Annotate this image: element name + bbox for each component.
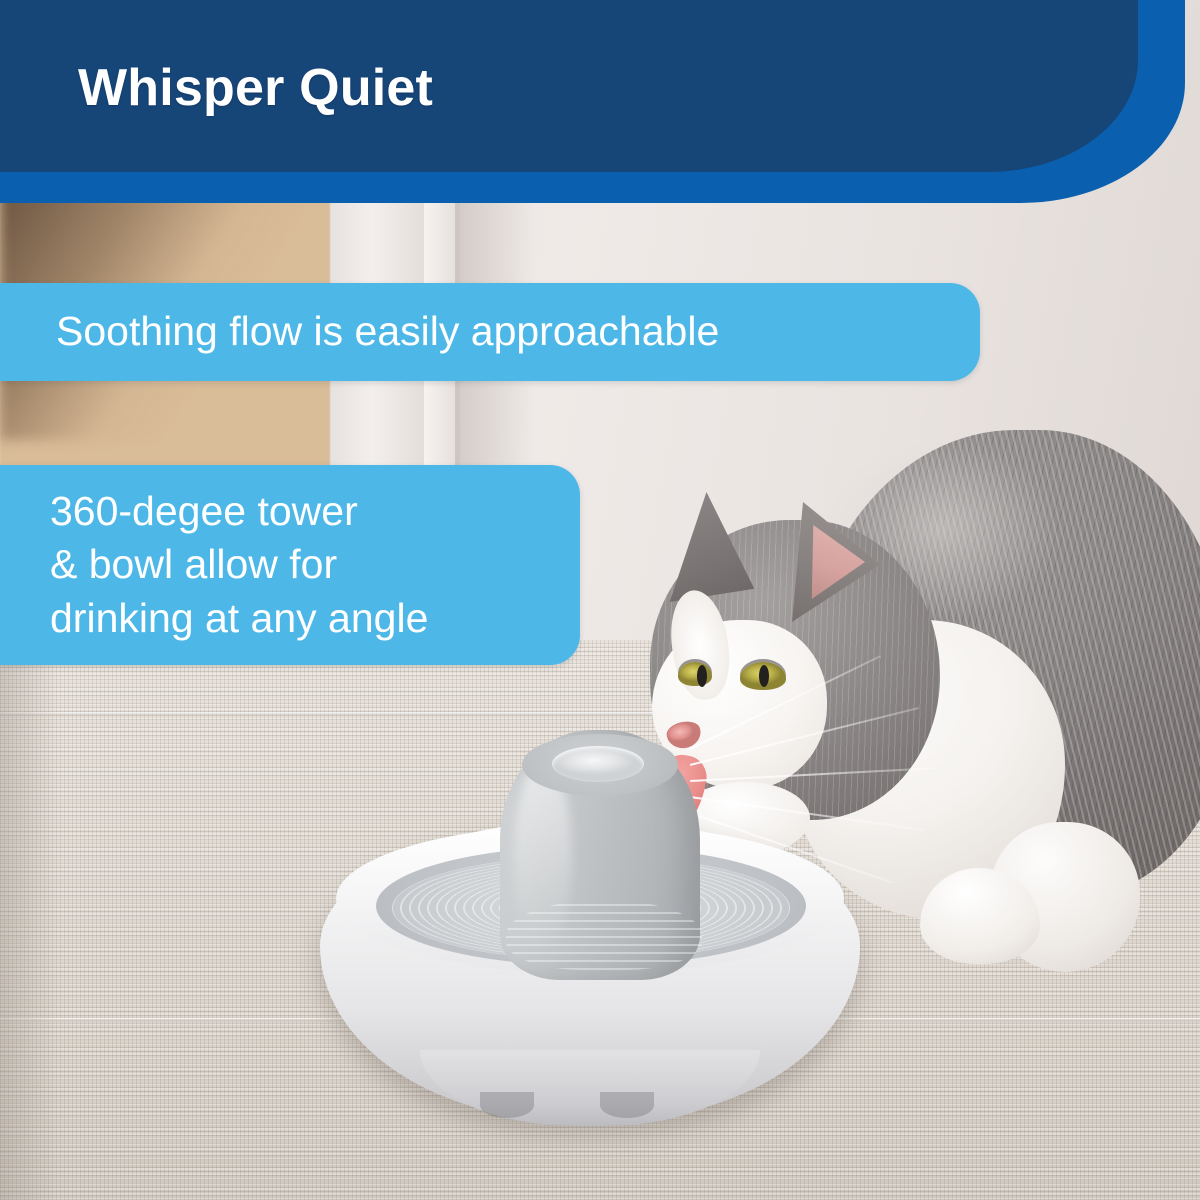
callout-360-tower: 360-degee tower & bowl allow for drinkin… <box>0 465 580 665</box>
fountain-bowl-base <box>420 1050 760 1126</box>
callout-soothing-flow-text: Soothing flow is easily approachable <box>0 309 719 354</box>
page-title: Whisper Quiet <box>78 58 433 118</box>
cat-right-eye <box>740 662 786 690</box>
fountain-base-notch <box>600 1092 654 1118</box>
cat-right-pupil <box>759 665 769 687</box>
carpet-edge-shadow <box>0 640 60 1200</box>
fountain-tower-water-ripples <box>506 900 702 970</box>
callout-360-tower-line-1: 360-degee tower <box>0 485 580 538</box>
cat-left-pupil <box>697 665 707 687</box>
pet-water-fountain <box>300 720 880 1140</box>
callout-360-tower-line-3: drinking at any angle <box>0 592 580 645</box>
callout-360-tower-line-2: & bowl allow for <box>0 538 580 591</box>
callout-soothing-flow: Soothing flow is easily approachable <box>0 283 980 381</box>
fountain-tower-water-opening <box>552 746 644 782</box>
fountain-base-notch <box>480 1092 534 1118</box>
cat-left-eye <box>678 662 712 686</box>
product-feature-image: Whisper Quiet Soothing flow is easily ap… <box>0 0 1200 1200</box>
